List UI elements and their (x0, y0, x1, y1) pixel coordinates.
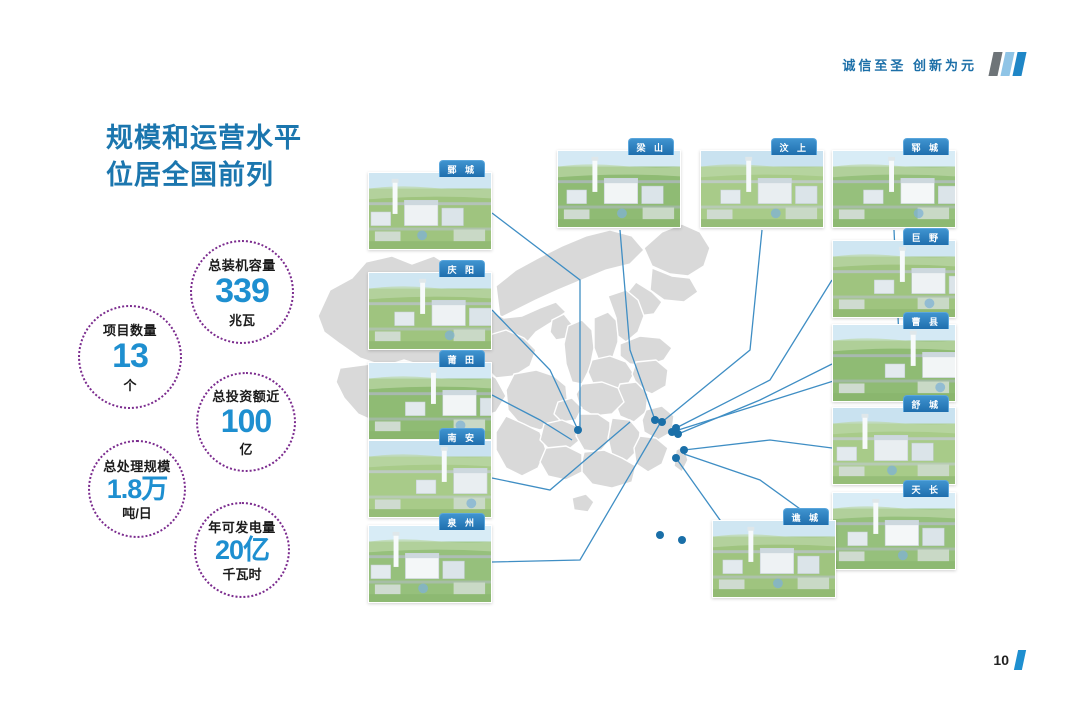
site-label-putian: 莆 田 (439, 350, 485, 367)
page-title-line-2: 位居全国前列 (106, 157, 302, 194)
site-photo (833, 408, 955, 484)
site-photo (701, 151, 823, 227)
site-photo (833, 151, 955, 227)
stat-circle-treatment-scale: 总处理规模1.8万吨/日 (88, 440, 186, 538)
stat-value: 339 (215, 274, 269, 310)
site-photo (833, 241, 955, 317)
stat-value: 1.8万 (107, 475, 168, 503)
site-photo (833, 325, 955, 401)
page-title: 规模和运营水平 位居全国前列 (106, 120, 302, 195)
bar-blue-icon (1012, 52, 1026, 76)
site-label-juancheng: 鄄 城 (439, 160, 485, 177)
site-label-qiaocheng: 谯 城 (783, 508, 829, 525)
stat-unit: 千瓦时 (222, 564, 261, 583)
stat-label: 年可发电量 (208, 517, 276, 536)
photo-card-tianchang[interactable]: 天 长 (832, 492, 956, 570)
stat-unit: 个 (123, 375, 136, 394)
site-photo (369, 526, 491, 602)
site-label-tianchang: 天 长 (903, 480, 949, 497)
stat-label: 总处理规模 (103, 456, 171, 475)
site-photo (369, 441, 491, 517)
site-photo (833, 493, 955, 569)
page-footer: 10 (993, 650, 1024, 670)
footer-bar-icon (1014, 650, 1026, 670)
stat-value: 13 (112, 339, 148, 375)
photo-card-yuncheng[interactable]: 郓 城 (832, 150, 956, 228)
site-label-qingyang: 庆 阳 (439, 260, 485, 277)
header-bar-group (991, 52, 1024, 76)
stat-value: 100 (221, 405, 271, 439)
page-title-line-1: 规模和运营水平 (106, 120, 302, 157)
photo-card-qiaocheng[interactable]: 谯 城 (712, 520, 836, 598)
site-label-shucheng: 舒 城 (903, 395, 949, 412)
stat-circle-annual-power: 年可发电量20亿千瓦时 (194, 502, 290, 598)
site-label-nanan: 南 安 (439, 428, 485, 445)
photo-card-juye[interactable]: 巨 野 (832, 240, 956, 318)
page-header: 诚信至圣 创新为元 (842, 52, 1024, 76)
site-label-caoxian: 曹 县 (903, 312, 949, 329)
photo-card-shucheng[interactable]: 舒 城 (832, 407, 956, 485)
stat-unit: 兆瓦 (229, 310, 255, 329)
page-number: 10 (993, 652, 1009, 668)
site-label-juye: 巨 野 (903, 228, 949, 245)
photo-card-liangshan[interactable]: 梁 山 (557, 150, 681, 228)
photo-card-wenshang[interactable]: 汶 上 (700, 150, 824, 228)
site-label-liangshan: 梁 山 (628, 138, 674, 155)
site-label-quanzhou: 泉 州 (439, 513, 485, 530)
photo-card-juancheng[interactable]: 鄄 城 (368, 172, 492, 250)
site-label-wenshang: 汶 上 (771, 138, 817, 155)
header-slogan: 诚信至圣 创新为元 (842, 55, 977, 74)
site-photo (713, 521, 835, 597)
site-photo (369, 173, 491, 249)
stat-unit: 亿 (239, 439, 252, 458)
stat-value: 20亿 (215, 536, 269, 564)
stat-unit: 吨/日 (122, 503, 152, 522)
photo-card-quanzhou[interactable]: 泉 州 (368, 525, 492, 603)
stat-circle-total-capacity: 总装机容量339兆瓦 (190, 240, 294, 344)
photo-card-nanan[interactable]: 南 安 (368, 440, 492, 518)
photo-card-qingyang[interactable]: 庆 阳 (368, 272, 492, 350)
site-photo (369, 273, 491, 349)
photo-card-caoxian[interactable]: 曹 县 (832, 324, 956, 402)
stat-circle-total-investment: 总投资额近100亿 (196, 372, 296, 472)
site-label-yuncheng: 郓 城 (903, 138, 949, 155)
stat-circle-project-count: 项目数量13个 (78, 305, 182, 409)
site-photo (558, 151, 680, 227)
